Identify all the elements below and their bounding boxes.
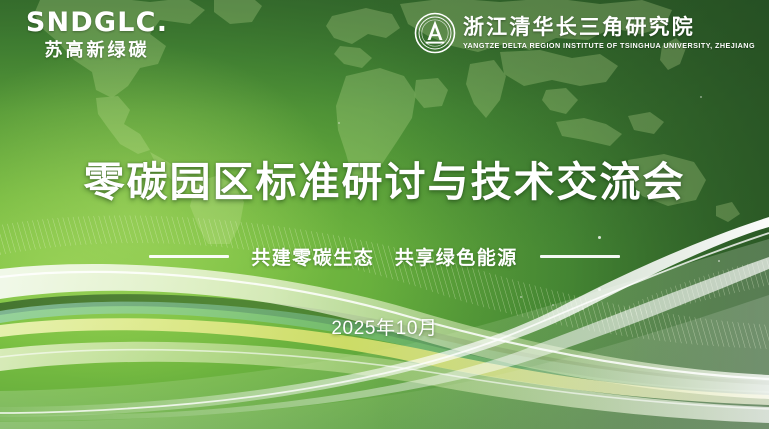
sndglc-chinese-name: 苏高新绿碳	[22, 41, 172, 59]
subtitle-text: 共建零碳生态 共享绿色能源	[251, 243, 518, 270]
institute-chinese-name: 浙江清华长三角研究院	[463, 17, 755, 38]
sndglc-logo: SNDGLC. 苏高新绿碳	[22, 9, 172, 59]
sndglc-wordmark: SNDGLC.	[22, 9, 172, 36]
event-date: 2025年10月	[0, 313, 769, 340]
institute-english-name: YANGTZE DELTA REGION INSTITUTE OF TSINGH…	[463, 42, 755, 49]
tsinghua-yangtze-delta-emblem-icon	[414, 12, 456, 54]
subtitle-row: 共建零碳生态 共享绿色能源	[0, 243, 769, 270]
institute-logo: 浙江清华长三角研究院 YANGTZE DELTA REGION INSTITUT…	[414, 12, 755, 54]
page-title: 零碳园区标准研讨与技术交流会	[0, 148, 769, 208]
sndglc-wordmark-dot: .	[157, 7, 168, 38]
subtitle-rule-right	[540, 255, 620, 258]
presentation-title-slide: SNDGLC. 苏高新绿碳 浙江清华长三角研究院 YANGTZE DELTA R…	[0, 0, 769, 429]
subtitle-rule-left	[149, 255, 229, 258]
